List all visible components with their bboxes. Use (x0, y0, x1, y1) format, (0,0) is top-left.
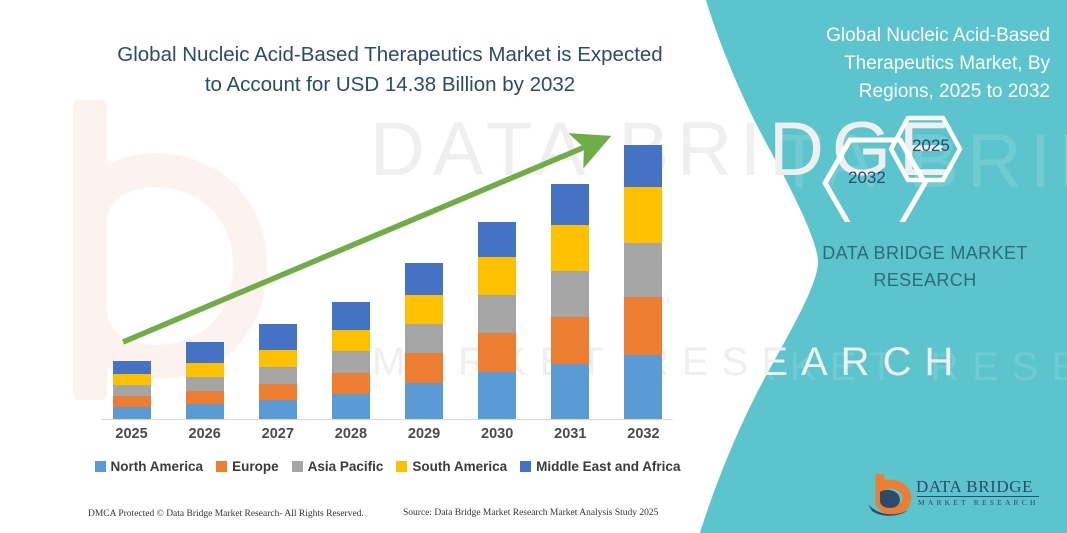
bar-segment (405, 295, 443, 324)
bar-segment (405, 383, 443, 419)
stacked-bar (624, 145, 662, 419)
bar-segment (624, 297, 662, 355)
axis-tick-label: 2030 (461, 426, 533, 442)
bar-segment (186, 391, 224, 404)
chart-baseline (102, 419, 673, 420)
bar-column (461, 125, 533, 419)
bar-segment (478, 257, 516, 295)
legend-swatch (396, 461, 407, 472)
stacked-bar (478, 222, 516, 419)
footer-source: Source: Data Bridge Market Research Mark… (403, 508, 658, 518)
bar-segment (113, 385, 151, 396)
legend-item[interactable]: North America (95, 459, 204, 474)
bar-column (607, 125, 679, 419)
bar-segment (186, 342, 224, 363)
year-hexagons: 2032 2025 (820, 112, 1000, 222)
bar-segment (551, 225, 589, 271)
bar-segment (551, 364, 589, 419)
bar-segment (478, 222, 516, 257)
bar-segment (624, 145, 662, 187)
legend-swatch (216, 461, 227, 472)
bar-segment (332, 373, 370, 394)
legend-label: North America (111, 459, 204, 474)
logo-text-sub: MARKET RESEARCH (918, 498, 1039, 507)
bar-column (534, 125, 606, 419)
bar-segment (551, 271, 589, 317)
bar-segment (186, 363, 224, 377)
hexagon-label-2025: 2025 (912, 136, 950, 156)
bar-segment (624, 355, 662, 419)
axis-tick-label: 2032 (607, 426, 679, 442)
bar-segment (259, 367, 297, 384)
bar-segment (332, 351, 370, 373)
legend-item[interactable]: Middle East and Africa (520, 459, 680, 474)
bar-segment (259, 384, 297, 400)
legend-label: South America (412, 459, 507, 474)
bar-segment (478, 333, 516, 372)
bar-segment (113, 374, 151, 385)
bar-segment (259, 400, 297, 419)
bar-segment (478, 295, 516, 333)
panel-brand-name: DATA BRIDGE MARKET RESEARCH (800, 240, 1050, 294)
bar-segment (478, 372, 516, 419)
axis-tick-label: 2031 (534, 426, 606, 442)
panel-title: Global Nucleic Acid-Based Therapeutics M… (800, 22, 1050, 106)
legend-label: Asia Pacific (308, 459, 384, 474)
bar-segment (259, 324, 297, 350)
page-title: Global Nucleic Acid-Based Therapeutics M… (110, 40, 670, 100)
footer-copyright: DMCA Protected © Data Bridge Market Rese… (88, 509, 364, 519)
chart-bars (95, 125, 680, 419)
infographic-page: DATA BRIDGE MARKET RESEARCH DATA BRIDGE … (0, 0, 1067, 533)
stacked-bar (186, 342, 224, 419)
panel-watermark-line2: MARKET RESEARCH (662, 345, 1067, 390)
bar-segment (405, 324, 443, 353)
bar-segment (624, 243, 662, 297)
hexagon-label-2032: 2032 (848, 168, 886, 188)
bar-segment (405, 353, 443, 383)
bar-segment (332, 330, 370, 351)
axis-tick-label: 2025 (96, 426, 168, 442)
stacked-bar-chart (95, 120, 680, 420)
stacked-bar (113, 361, 151, 419)
stacked-bar (551, 184, 589, 419)
legend-item[interactable]: Asia Pacific (292, 459, 384, 474)
bar-segment (405, 263, 443, 295)
dbmr-logo: DATA BRIDGE MARKET RESEARCH (866, 474, 1046, 520)
bar-segment (259, 350, 297, 367)
chart-legend: North AmericaEuropeAsia PacificSouth Ame… (95, 459, 680, 474)
axis-tick-label: 2028 (315, 426, 387, 442)
bar-column (388, 125, 460, 419)
bar-segment (551, 184, 589, 225)
bar-column (96, 125, 168, 419)
bar-segment (186, 377, 224, 391)
bar-segment (113, 361, 151, 374)
axis-tick-label: 2026 (169, 426, 241, 442)
legend-label: Middle East and Africa (536, 459, 680, 474)
bar-segment (113, 407, 151, 419)
bar-segment (332, 394, 370, 419)
bar-segment (332, 302, 370, 330)
axis-tick-label: 2029 (388, 426, 460, 442)
legend-swatch (292, 461, 303, 472)
legend-swatch (95, 461, 106, 472)
logo-text-main: DATA BRIDGE (916, 477, 1033, 497)
bar-segment (624, 187, 662, 243)
bar-column (169, 125, 241, 419)
logo-divider (917, 496, 1039, 497)
bar-segment (113, 396, 151, 407)
hexagon-shapes-icon (820, 112, 1000, 222)
chart-x-axis: 20252026202720282029203020312032 (95, 426, 680, 442)
axis-tick-label: 2027 (242, 426, 314, 442)
bar-column (315, 125, 387, 419)
bar-segment (551, 317, 589, 364)
stacked-bar (332, 302, 370, 419)
legend-item[interactable]: South America (396, 459, 507, 474)
stacked-bar (405, 263, 443, 419)
legend-label: Europe (232, 459, 279, 474)
dbmr-logo-mark-icon (866, 474, 914, 518)
legend-item[interactable]: Europe (216, 459, 279, 474)
legend-swatch (520, 461, 531, 472)
stacked-bar (259, 324, 297, 419)
bar-column (242, 125, 314, 419)
bar-segment (186, 404, 224, 419)
